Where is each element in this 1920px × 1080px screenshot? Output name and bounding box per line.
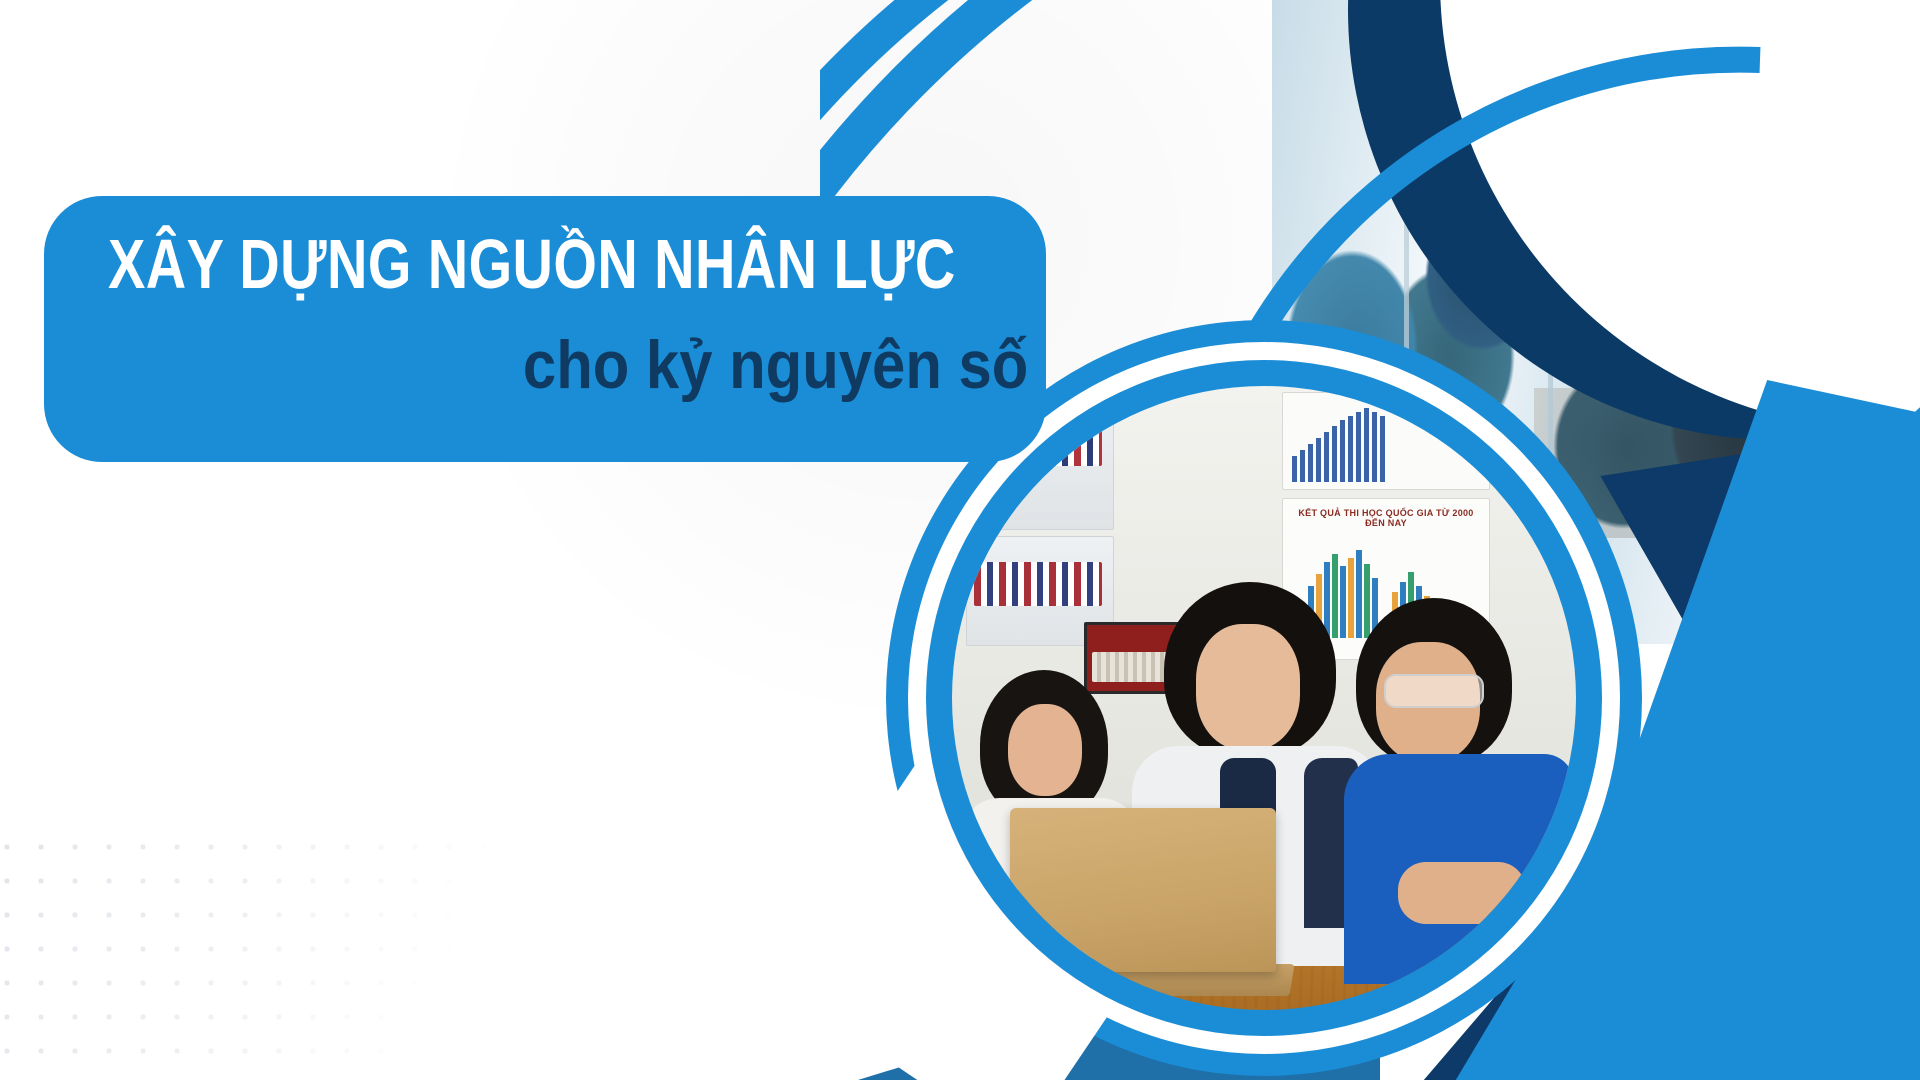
poster-figures: [974, 562, 1102, 606]
chart-bar: [1292, 456, 1297, 482]
chart-bar: [1316, 438, 1321, 482]
chart-bar: [1348, 558, 1354, 638]
chart-bar: [1300, 450, 1305, 482]
dot-grid-texture: [0, 830, 610, 1080]
chart-bar: [1364, 408, 1369, 482]
chart-bar: [1356, 550, 1362, 638]
chart-bar: [1332, 554, 1338, 638]
person-student-right-glasses: [1384, 674, 1484, 708]
chart-bar: [1348, 416, 1353, 482]
laptop-lid: [1010, 808, 1276, 972]
photo-contents: KẾT QUẢ THI HỌC QUỐC GIA TỪ 2000 ĐẾN NAY: [952, 386, 1576, 1010]
banner-canvas: KẾT QUẢ THI HỌC QUỐC GIA TỪ 2000 ĐẾN NAY: [0, 0, 1920, 1080]
title-plate: XÂY DỰNG NGUỒN NHÂN LỰC cho kỷ nguyên số: [44, 196, 1046, 462]
chart-bar: [1372, 412, 1377, 482]
person-student-center-face: [1196, 624, 1300, 750]
person-teacher-face: [1008, 704, 1082, 796]
chart-bar: [1308, 444, 1313, 482]
chart-bar: [1340, 566, 1346, 638]
chart-bar: [1364, 564, 1370, 638]
chart-bar: [1380, 416, 1385, 482]
students-laptop-photo: KẾT QUẢ THI HỌC QUỐC GIA TỪ 2000 ĐẾN NAY: [952, 386, 1576, 1010]
chart-bar: [1324, 432, 1329, 482]
page-title-line-2: cho kỷ nguyên số: [108, 324, 1068, 406]
wall-chart-caption: KẾT QUẢ THI HỌC QUỐC GIA TỪ 2000 ĐẾN NAY: [1288, 508, 1484, 528]
page-title-line-1: XÂY DỰNG NGUỒN NHÂN LỰC: [108, 222, 828, 306]
page-title-line-2-text: cho kỷ nguyên số: [523, 324, 1028, 406]
wall-chart-top: [1282, 392, 1490, 490]
chart-bar: [1340, 420, 1345, 482]
chart-bar: [1332, 426, 1337, 482]
chart-bar: [1356, 412, 1361, 482]
person-student-right-hands: [1398, 862, 1526, 924]
